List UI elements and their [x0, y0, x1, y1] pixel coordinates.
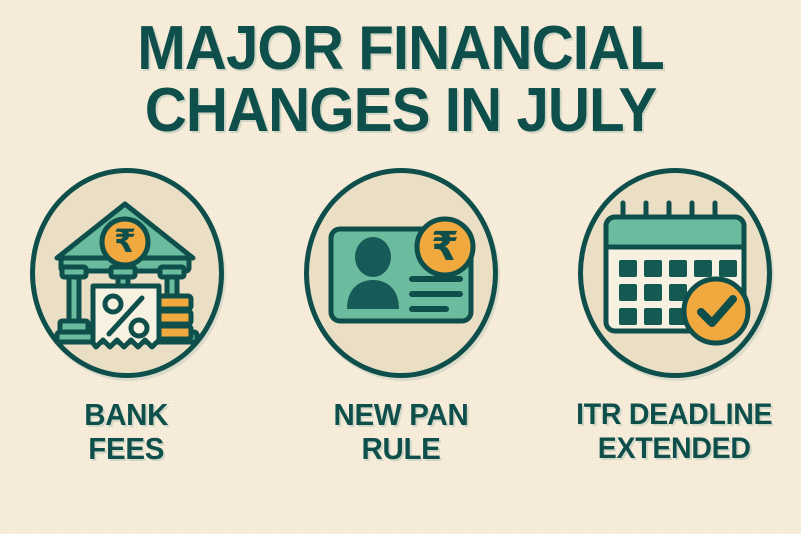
calendar-header: [606, 217, 744, 247]
pan-card-icon: ₹: [321, 193, 481, 353]
card-pan-rule[interactable]: ₹ NEW PAN RULE: [288, 168, 514, 466]
card-bank-fees[interactable]: ₹ BANK FEES: [14, 168, 240, 466]
bank-fees-icon: ₹: [47, 190, 207, 356]
card-caption-bank-fees: BANK FEES: [85, 398, 169, 466]
card-row: ₹ BANK FEES: [0, 168, 801, 466]
title-line-1: MAJOR FINANCIAL: [24, 18, 777, 80]
card-caption-pan-rule: NEW PAN RULE: [333, 398, 468, 466]
card-itr-deadline[interactable]: ITR DEADLINE EXTENDED: [562, 168, 788, 466]
rupee-symbol: ₹: [113, 222, 135, 260]
page-title: MAJOR FINANCIAL CHANGES IN JULY: [0, 18, 801, 142]
calendar-check-icon: [594, 193, 756, 353]
icon-circle-bank-fees: ₹: [30, 168, 224, 378]
check-badge-icon: [684, 279, 748, 343]
card-caption-itr-deadline: ITR DEADLINE EXTENDED: [576, 398, 772, 466]
icon-circle-pan-rule: ₹: [304, 168, 498, 378]
icon-circle-itr-deadline: [578, 168, 772, 378]
rupee-symbol: ₹: [431, 224, 459, 270]
title-line-2: CHANGES IN JULY: [24, 80, 777, 142]
infographic-poster: MAJOR FINANCIAL CHANGES IN JULY: [0, 0, 801, 534]
